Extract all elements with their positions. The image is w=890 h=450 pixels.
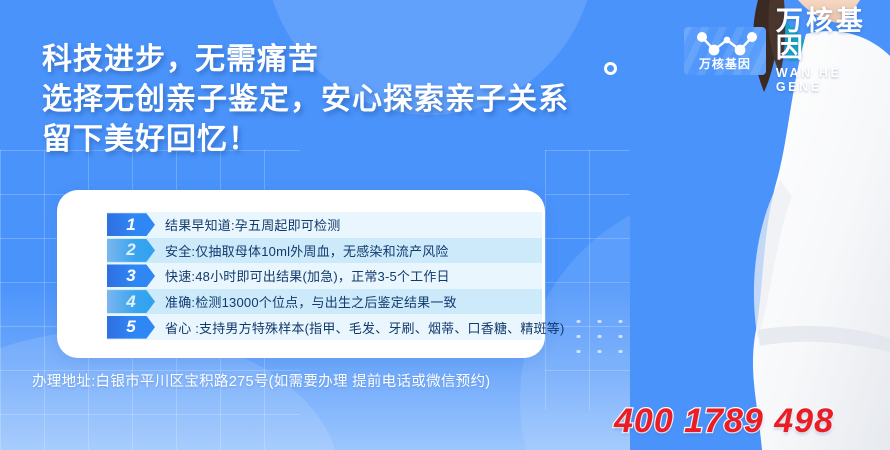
brand-name-cn: 万核基因 <box>776 8 890 62</box>
list-item[interactable]: 5 省心 :支持男方特殊样本(指甲、毛发、牙刷、烟蒂、口香糖、精斑等) <box>107 314 627 340</box>
headline-line-1-part-b: 无需痛苦 <box>195 43 319 76</box>
headline-line-2: 选择无创亲子鉴定，安心探索亲子关系 <box>42 80 569 120</box>
feature-number-badge: 2 <box>107 239 155 262</box>
headline-line-1: 科技进步，无需痛苦 <box>42 40 569 80</box>
feature-number-badge: 5 <box>107 316 155 339</box>
list-item[interactable]: 2 安全:仅抽取母体10ml外周血，无感染和流产风险 <box>107 238 627 264</box>
brand-logo[interactable]: 万核基因 万核基因 WAN HE GENE <box>684 8 890 94</box>
headline-separator: ， <box>166 43 195 76</box>
list-item[interactable]: 4 准确:检测13000个位点，与出生之后鉴定结果一致 <box>107 289 627 315</box>
feature-number-badge: 1 <box>107 213 155 236</box>
list-item[interactable]: 3 快速:48小时即可出结果(加急)，正常3-5个工作日 <box>107 263 627 289</box>
feature-text: 准确:检测13000个位点，与出生之后鉴定结果一致 <box>165 292 457 311</box>
headline-line-1-part-a: 科技进步 <box>42 43 166 76</box>
promo-banner: 万核基因 万核基因 WAN HE GENE 科技进步，无需痛苦 选择无创亲子鉴定… <box>0 0 890 450</box>
list-item[interactable]: 1 结果早知道:孕五周起即可检测 <box>107 212 627 238</box>
feature-text: 省心 :支持男方特殊样本(指甲、毛发、牙刷、烟蒂、口香糖、精斑等) <box>165 318 564 337</box>
office-address: 办理地址:白银市平川区宝积路275号(如需要办理 提前电话或微信预约) <box>32 370 490 391</box>
circle-outline-icon <box>604 62 617 75</box>
contact-phone-number[interactable]: 400 1789 498 <box>614 402 834 441</box>
logo-badge-text: 万核基因 <box>684 55 766 72</box>
feature-number-badge: 4 <box>107 290 155 313</box>
feature-text: 快速:48小时即可出结果(加急)，正常3-5个工作日 <box>165 266 450 285</box>
feature-text: 安全:仅抽取母体10ml外周血，无感染和流产风险 <box>165 241 449 260</box>
logo-badge: 万核基因 <box>684 27 766 75</box>
brand-name-en: WAN HE GENE <box>776 66 890 94</box>
headline-block: 科技进步，无需痛苦 选择无创亲子鉴定，安心探索亲子关系 留下美好回忆！ <box>42 40 569 160</box>
feature-number-badge: 3 <box>107 264 155 287</box>
feature-text: 结果早知道:孕五周起即可检测 <box>165 215 340 234</box>
headline-line-3: 留下美好回忆！ <box>42 120 569 160</box>
feature-list: 1 结果早知道:孕五周起即可检测 2 安全:仅抽取母体10ml外周血，无感染和流… <box>107 212 627 340</box>
